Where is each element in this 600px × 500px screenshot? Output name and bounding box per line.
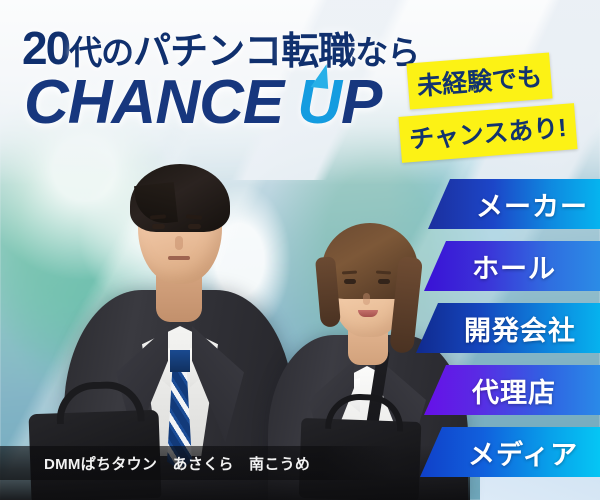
banner-ad[interactable]: 20代のパチンコ転職なら CHANCE U P 未経験でも チャンスあり! メー…	[0, 0, 600, 500]
badge-line-1: 未経験でも	[406, 52, 552, 109]
category-button-media[interactable]: メディア	[420, 427, 600, 477]
badge-line-2: チャンスあり!	[398, 103, 577, 163]
logo-letter-p: P	[341, 72, 381, 134]
category-label: ホール	[472, 247, 556, 286]
headline-katakana: パチンコ	[133, 31, 281, 73]
category-label: 開発会社	[464, 309, 576, 348]
category-label: メディア	[468, 433, 578, 472]
credit-text: DMMぱちタウン あさくら 南こうめ	[0, 453, 310, 474]
headline-mid: 代の	[69, 34, 133, 71]
headline-number: 20	[22, 22, 69, 74]
page-title: 20代のパチンコ転職なら	[22, 20, 419, 75]
credit-bar: DMMぱちタウン あさくら 南こうめ	[0, 446, 394, 480]
category-label: 代理店	[472, 371, 556, 410]
category-button-list: メーカー ホール 開発会社 代理店 メディア	[0, 179, 600, 489]
category-button-hall[interactable]: ホール	[424, 241, 600, 291]
category-button-maker[interactable]: メーカー	[428, 179, 600, 229]
logo-up-wrap: U P	[297, 72, 381, 134]
chance-up-logo: CHANCE U P	[24, 72, 381, 134]
category-button-agency[interactable]: 代理店	[424, 365, 600, 415]
category-button-developer[interactable]: 開発会社	[416, 303, 600, 353]
logo-word-chance: CHANCE	[24, 72, 283, 134]
status-badge: 未経験でも チャンスあり!	[400, 58, 600, 156]
category-label: メーカー	[476, 185, 588, 224]
